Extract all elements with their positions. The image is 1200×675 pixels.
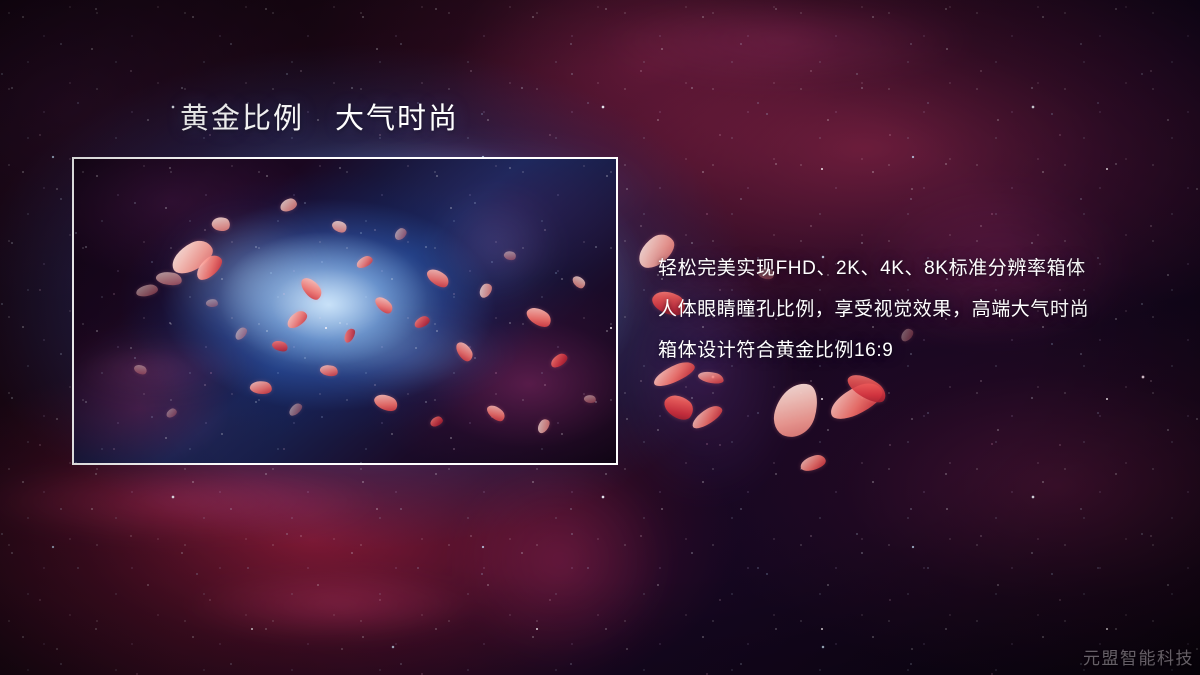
body-line-3: 箱体设计符合黄金比例16:9 <box>658 340 1158 361</box>
presentation-slide: 黄金比例 大气时尚 轻松完美实现FHD、2K、4K、8K标准分辨率箱体 人体眼睛… <box>0 0 1200 675</box>
galaxy-petals-photo-frame[interactable] <box>72 157 618 465</box>
company-watermark: 元盟智能科技 <box>1083 644 1194 669</box>
body-line-1: 轻松完美实现FHD、2K、4K、8K标准分辨率箱体 <box>658 258 1158 279</box>
body-line-2: 人体眼睛瞳孔比例，享受视觉效果，高端大气时尚 <box>658 299 1158 320</box>
slide-title: 黄金比例 大气时尚 <box>180 102 459 136</box>
body-copy-block: 轻松完美实现FHD、2K、4K、8K标准分辨率箱体 人体眼睛瞳孔比例，享受视觉效… <box>658 258 1158 361</box>
